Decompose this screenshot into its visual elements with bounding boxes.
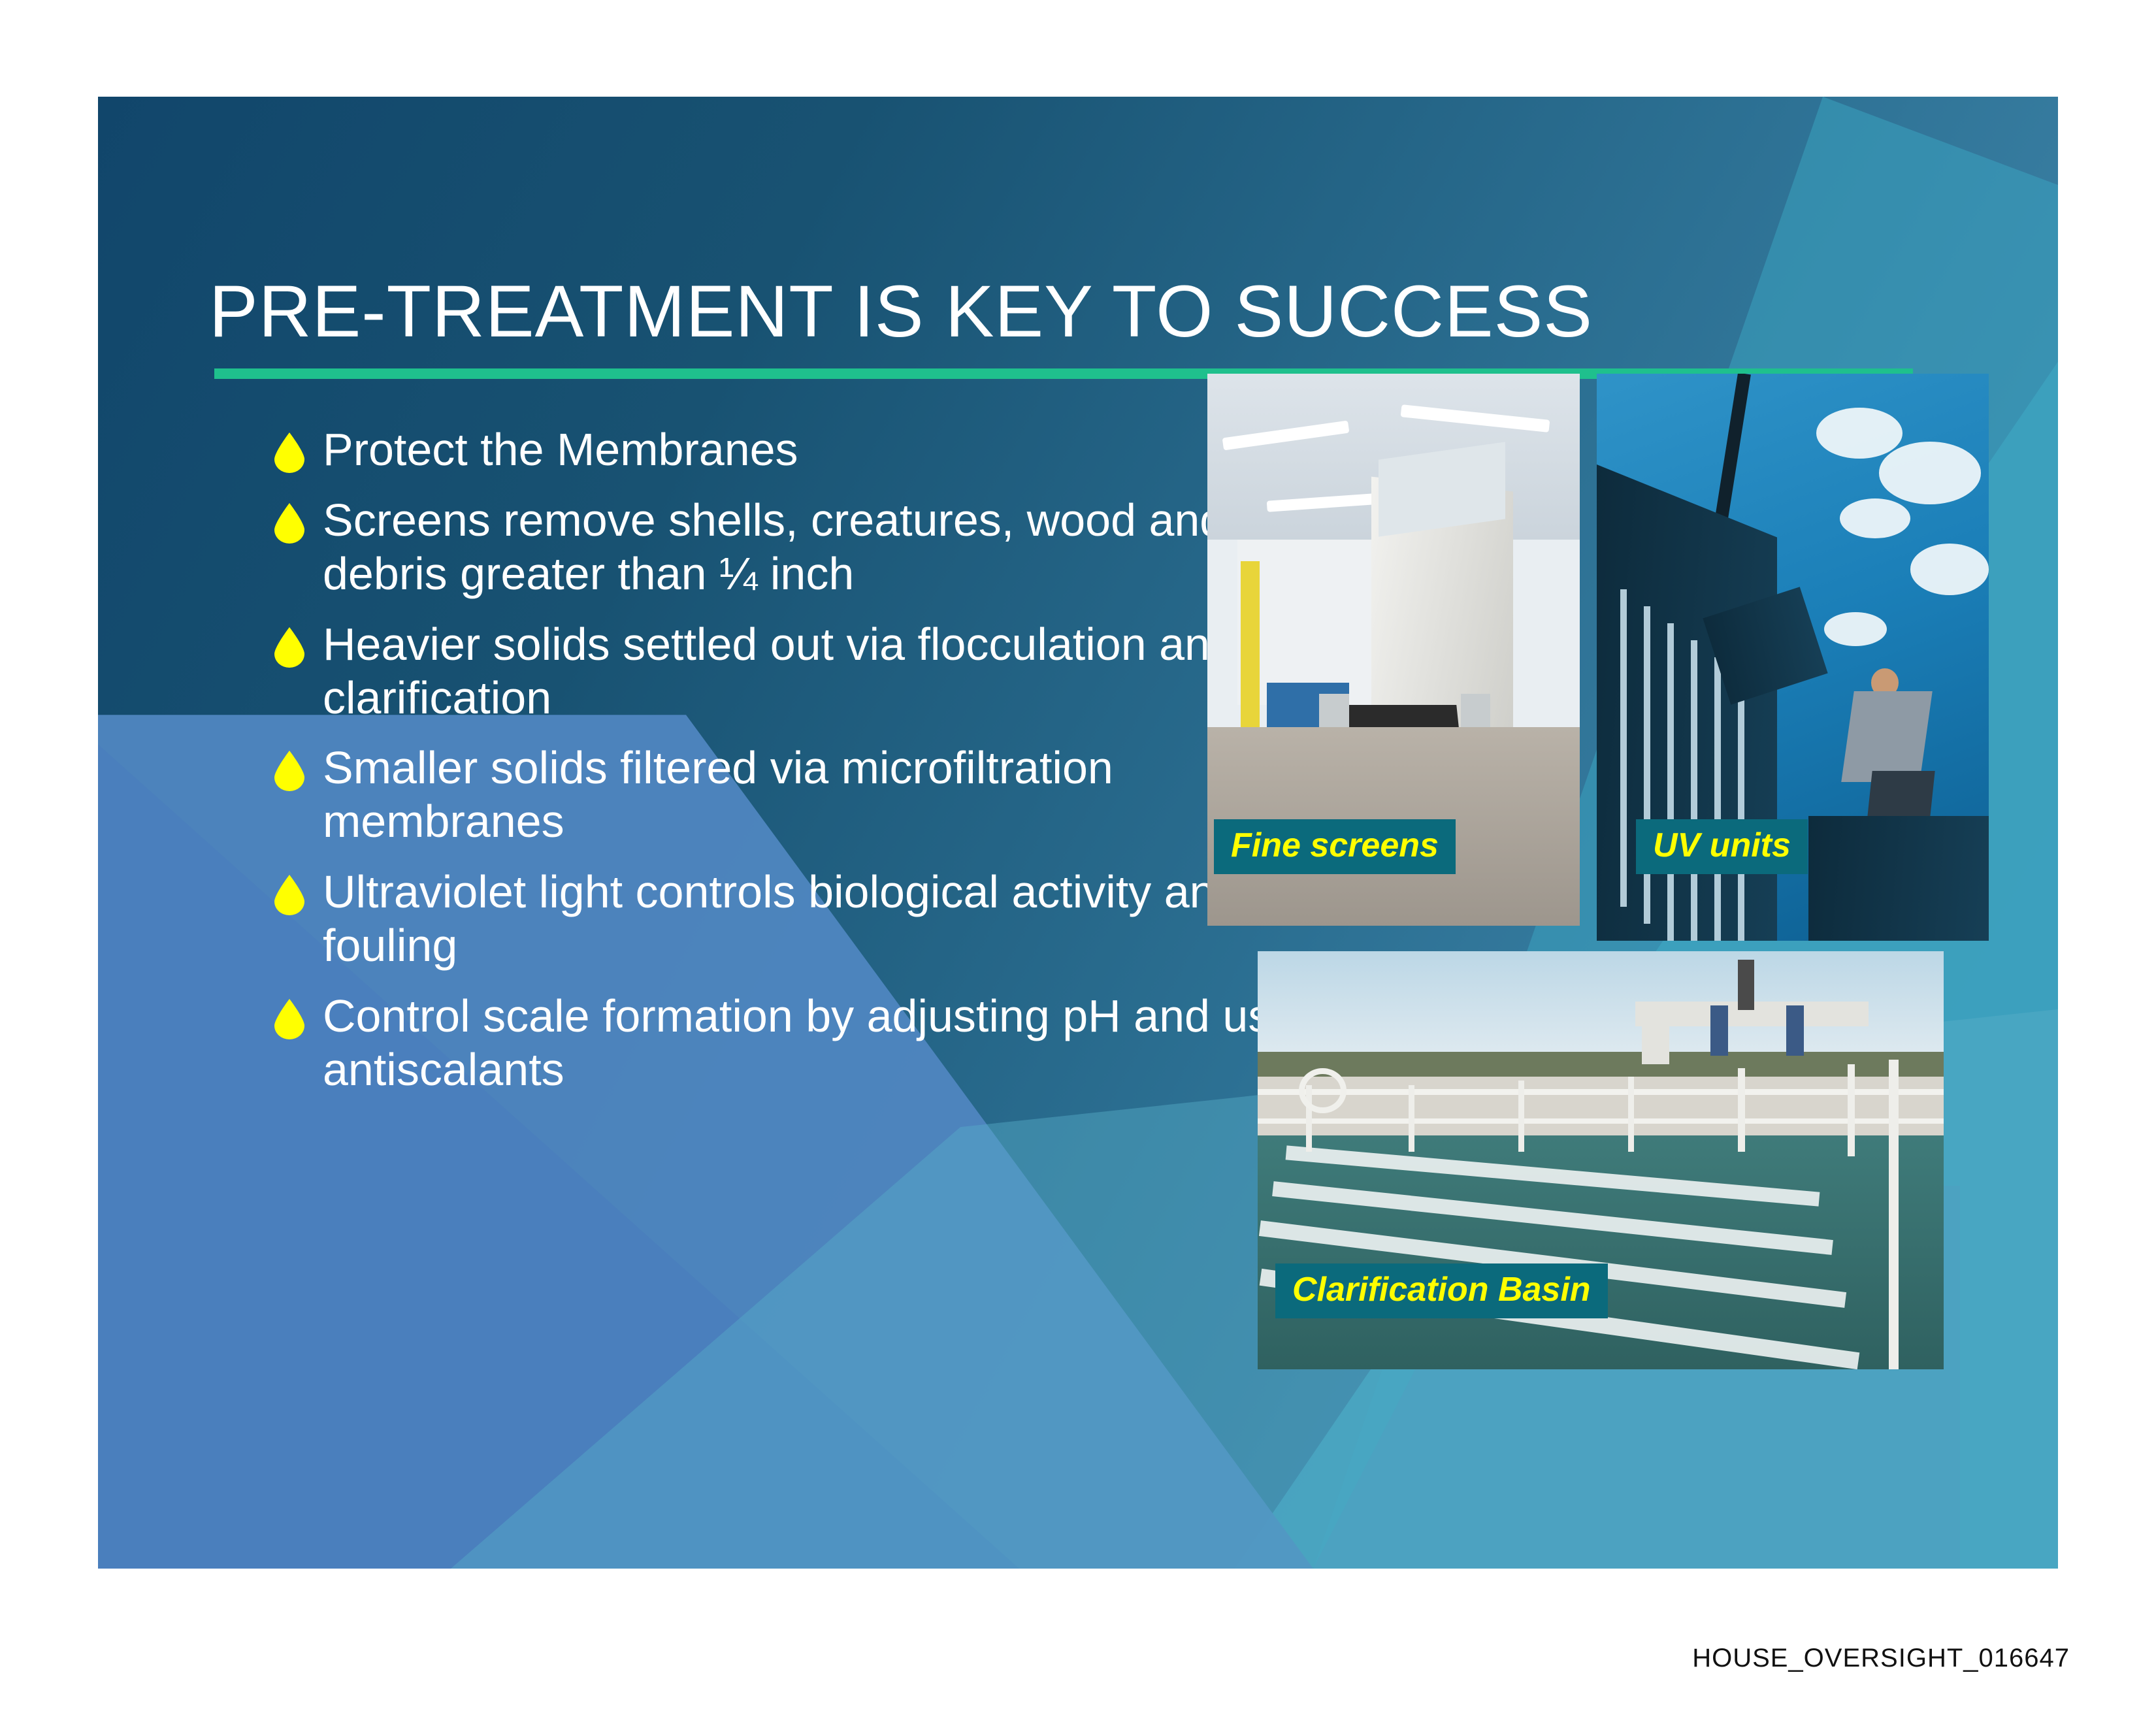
water-drop-icon — [274, 866, 311, 915]
photo-detail-railing-post — [1518, 1081, 1524, 1152]
water-drop-icon — [274, 618, 311, 668]
photo-detail-uv-lamp — [1644, 606, 1650, 924]
bullet-list: Protect the Membranes Screens remove she… — [274, 423, 1333, 1114]
water-drop-icon — [274, 990, 311, 1039]
photo-detail-uv-lamp — [1714, 657, 1721, 941]
list-item: Screens remove shells, creatures, wood a… — [274, 494, 1333, 601]
photo-detail-railing-post — [1738, 1068, 1745, 1152]
photo-detail-railing-post — [1409, 1085, 1414, 1152]
photo-detail-equipment — [1710, 1005, 1728, 1056]
photo-detail-worker-body — [1841, 691, 1933, 782]
photo-detail-railing-post — [1628, 1077, 1634, 1152]
list-item: Ultraviolet light controls biological ac… — [274, 866, 1333, 973]
list-item-label: Heavier solids settled out via flocculat… — [323, 618, 1333, 725]
list-item: Protect the Membranes — [274, 423, 1333, 477]
list-item-label: Screens remove shells, creatures, wood a… — [323, 494, 1333, 601]
list-item: Heavier solids settled out via flocculat… — [274, 618, 1333, 725]
photo-caption-clarification-basin: Clarification Basin — [1275, 1263, 1608, 1318]
photo-detail-basin-water — [1258, 1135, 1944, 1369]
list-item-label: Protect the Membranes — [323, 423, 798, 477]
list-item-label: Ultraviolet light controls biological ac… — [323, 866, 1333, 973]
photo-detail-railing-post — [1889, 1060, 1899, 1369]
list-item: Smaller solids filtered via microfiltrat… — [274, 741, 1333, 849]
water-drop-icon — [274, 741, 311, 791]
water-drop-icon — [274, 494, 311, 544]
photo-detail-cloud — [1816, 408, 1903, 459]
photo-detail-equipment — [1642, 1005, 1669, 1064]
list-item-label: Smaller solids filtered via microfiltrat… — [323, 741, 1333, 849]
bates-stamp: HOUSE_OVERSIGHT_016647 — [1692, 1644, 2070, 1673]
photo-detail-life-ring — [1299, 1068, 1347, 1113]
water-drop-icon — [274, 423, 311, 473]
photo-detail-uv-lamp — [1738, 680, 1744, 941]
list-item: Control scale formation by adjusting pH … — [274, 990, 1333, 1097]
title-block: PRE-TREATMENT IS KEY TO SUCCESS — [209, 273, 2019, 350]
photo-detail-railing — [1258, 1118, 1944, 1124]
photo-detail-cloud — [1910, 544, 1989, 595]
photo-caption-uv-units: UV units — [1636, 819, 1808, 874]
photo-detail-uv-lamp — [1691, 640, 1697, 941]
photo-detail-mast — [1738, 960, 1754, 1010]
list-item-label: Control scale formation by adjusting pH … — [323, 990, 1333, 1097]
photo-detail-cloud — [1824, 612, 1887, 646]
page-title: PRE-TREATMENT IS KEY TO SUCCESS — [209, 273, 2019, 350]
photo-detail-cloud — [1840, 498, 1910, 538]
photo-detail-cloud — [1879, 442, 1981, 504]
photo-detail-uv-lamp — [1620, 589, 1627, 907]
photo-detail-uv-lamp — [1667, 623, 1674, 941]
photo-caption-fine-screens: Fine screens — [1214, 819, 1456, 874]
presentation-slide: PRE-TREATMENT IS KEY TO SUCCESS Protect … — [98, 97, 2058, 1569]
photo-detail-railing — [1258, 1089, 1944, 1095]
photo-detail-equipment — [1786, 1005, 1804, 1056]
photo-detail-platform — [1808, 816, 1989, 941]
photo-detail-railing-post — [1848, 1064, 1855, 1156]
